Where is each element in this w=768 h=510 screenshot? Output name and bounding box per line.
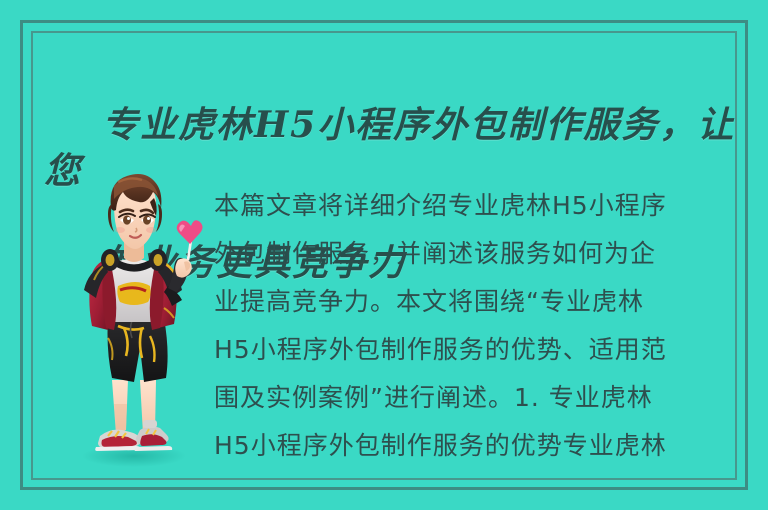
article-body: 本篇文章将详细介绍专业虎林H5小程序 外包制作服务，并阐述该服务如何为企 业提高… (214, 182, 744, 470)
body-line: 本篇文章将详细介绍专业虎林H5小程序 (214, 182, 744, 230)
body-line: 围及实例案例”进行阐述。1. 专业虎林 (214, 374, 744, 422)
character-head (108, 174, 162, 262)
poster-canvas: 专业虎林H5小程序外包制作服务，让您 的业务更具竞争力 本篇文章将详细介绍专业虎… (0, 0, 768, 510)
character-illustration (58, 168, 218, 468)
character-sneakers (95, 420, 172, 451)
heart-lollipop (177, 220, 203, 244)
body-line: H5小程序外包制作服务的优势专业虎林 (214, 422, 744, 470)
body-line: 业提高竞争力。本文将围绕“专业虎林 (214, 278, 744, 326)
body-line: H5小程序外包制作服务的优势、适用范 (214, 326, 744, 374)
body-line: 外包制作服务，并阐述该服务如何为企 (214, 230, 744, 278)
character-arm-with-lollipop (168, 220, 203, 292)
